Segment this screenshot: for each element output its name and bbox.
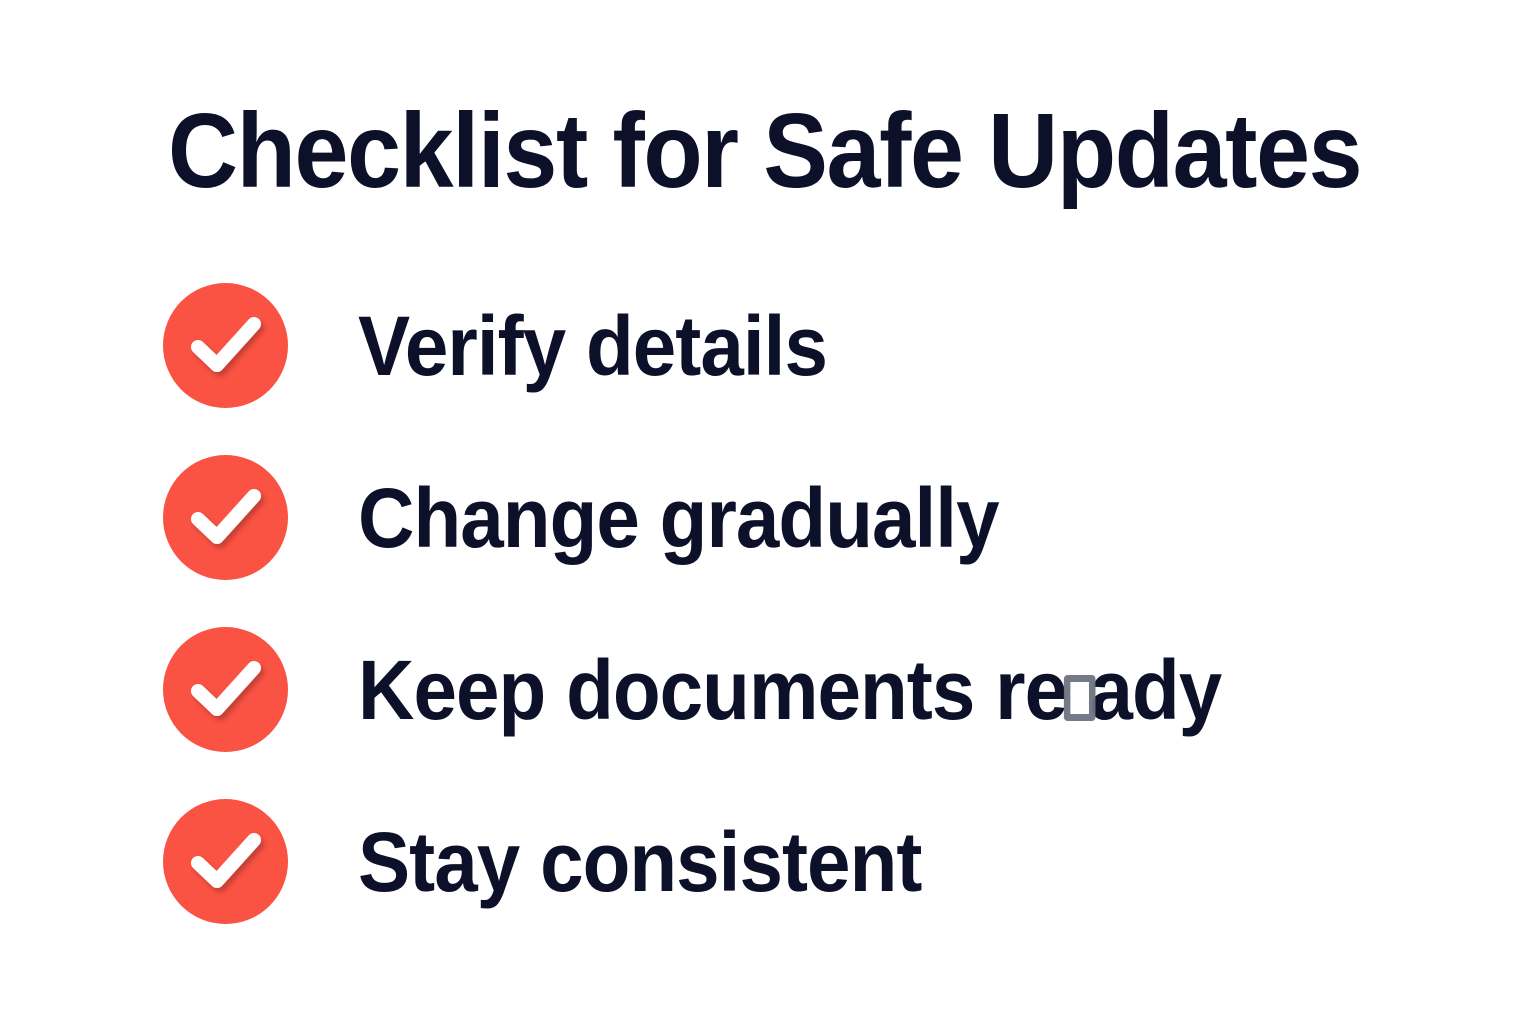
list-item[interactable]: Change gradually [163,454,1463,581]
list-item[interactable]: Verify details [163,282,1463,409]
checklist: Verify details Change gradually [163,282,1463,925]
list-item-label: Verify details [358,301,827,391]
list-item-label-after: ady [1089,645,1221,735]
list-item-label-before: Keep documents re [358,645,1067,735]
check-circle-icon [163,627,288,752]
check-circle-icon [163,455,288,580]
list-item-label: Keep documents ready [358,645,1221,735]
checklist-graphic: Checklist for Safe Updates Verify detail… [0,0,1536,1024]
check-circle-icon [163,799,288,924]
page-title: Checklist for Safe Updates [168,96,1312,206]
missing-glyph-icon [1063,675,1095,721]
check-circle-icon [163,283,288,408]
list-item-label: Stay consistent [358,817,921,907]
list-item[interactable]: Keep documents ready [163,626,1463,753]
list-item-label: Change gradually [358,473,999,563]
list-item[interactable]: Stay consistent [163,798,1463,925]
